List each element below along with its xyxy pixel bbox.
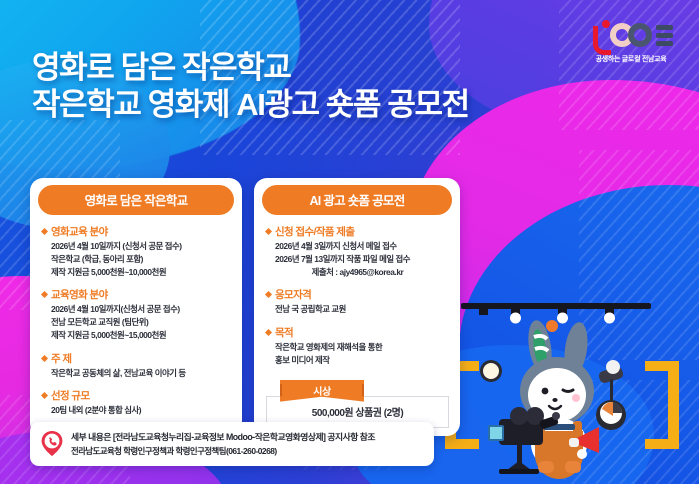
card-header-right: AI 광고 숏폼 공모전 bbox=[262, 185, 452, 215]
list-item: 영화교육 분야 2026년 4월 10일까지 (신청서 공문 접수) 작은학교 … bbox=[42, 224, 231, 278]
list-item: 신청 접수/작품 제출 2026년 4월 3일까지 신청서 메일 접수 2026… bbox=[266, 224, 449, 278]
bullet-diamond-icon bbox=[41, 291, 48, 298]
card-body-left: 영화교육 분야 2026년 4월 10일까지 (신청서 공문 접수) 작은학교 … bbox=[30, 215, 242, 425]
bullet-diamond-icon bbox=[265, 228, 272, 235]
card-ai-ad-shortform: AI 광고 숏폼 공모전 신청 접수/작품 제출 2026년 4월 3일까지 신… bbox=[254, 178, 460, 436]
item-lines: 2026년 4월 10일까지 (신청서 공문 접수) 작은학교 (학급, 동아리… bbox=[42, 240, 231, 278]
item-lines: 2026년 4월 3일까지 신청서 메일 접수 2026년 7월 13일까지 작… bbox=[266, 240, 449, 266]
page-title: 영화로 담은 작은학교 작은학교 영화제 AI광고 숏폼 공모전 bbox=[32, 50, 469, 123]
item-title: 신청 접수/작품 제출 bbox=[266, 224, 449, 239]
mascot-scene bbox=[439, 299, 699, 484]
headline-line-1: 영화로 담은 작은학교 bbox=[32, 50, 469, 87]
card-body-right: 신청 접수/작품 제출 2026년 4월 3일까지 신청서 메일 접수 2026… bbox=[254, 215, 460, 436]
item-title: 영화교육 분야 bbox=[42, 224, 231, 239]
footer-text: 세부 내용은 [전라남도교육청누리집-교육정보 Modoo-작은학교영화영상제]… bbox=[71, 430, 375, 457]
rabbit-mascot-icon bbox=[488, 319, 599, 479]
bullet-diamond-icon bbox=[41, 228, 48, 235]
bullet-diamond-icon bbox=[41, 392, 48, 399]
logo-letter-j-icon bbox=[589, 20, 609, 50]
item-title: 주 제 bbox=[42, 351, 231, 366]
bullet-diamond-icon bbox=[41, 355, 48, 362]
item-title: 선정 규모 bbox=[42, 388, 231, 403]
round-studio-light-icon bbox=[480, 360, 502, 382]
item-title: 목적 bbox=[266, 325, 449, 340]
card-header-left: 영화로 담은 작은학교 bbox=[38, 185, 234, 215]
studio-light-bar-icon bbox=[461, 303, 651, 324]
list-item: 선정 규모 20팀 내외 (2분야 통합 심사) bbox=[42, 388, 231, 417]
right-bracket-icon bbox=[645, 361, 679, 449]
item-title: 응모자격 bbox=[266, 287, 449, 302]
list-item: 주 제 작은학교 공동체의 삶, 전남교육 이야기 등 bbox=[42, 351, 231, 380]
card-film-education: 영화로 담은 작은학교 영화교육 분야 2026년 4월 10일까지 (신청서 … bbox=[30, 178, 242, 436]
submission-email: 제출처 : ajy4965@korea.kr bbox=[266, 266, 449, 279]
item-title: 교육영화 분야 bbox=[42, 287, 231, 302]
headline-line-2: 작은학교 영화제 AI광고 숏폼 공모전 bbox=[32, 87, 469, 124]
item-lines: 작은학교 공동체의 삶, 전남교육 이야기 등 bbox=[42, 367, 231, 380]
logo-letter-o2-icon bbox=[628, 23, 652, 47]
item-lines: 전남 국 공립학교 교원 bbox=[266, 303, 449, 316]
info-cards: 영화로 담은 작은학교 영화교육 분야 2026년 4월 10일까지 (신청서 … bbox=[30, 178, 460, 436]
award-section: 시상 500,000원 상품권 (2명) bbox=[266, 376, 449, 428]
item-lines: 작은학교 영화제의 재해석을 통한 홍보 미디어 제작 bbox=[266, 341, 449, 367]
footer-line-2: 전라남도교육청 학령인구정책과 학령인구정책팀(061-260-0268) bbox=[71, 445, 375, 457]
list-item: 목적 작은학교 영화제의 재해석을 통한 홍보 미디어 제작 bbox=[266, 325, 449, 367]
item-lines: 2026년 4월 10일까지(신청서 공문 접수) 전남 모든학교 교직원 (팀… bbox=[42, 303, 231, 341]
boom-light-icon bbox=[596, 360, 626, 430]
item-lines: 20팀 내외 (2분야 통합 심사) bbox=[42, 404, 231, 417]
list-item: 응모자격 전남 국 공립학교 교원 bbox=[266, 287, 449, 316]
footer-line-1: 세부 내용은 [전라남도교육청누리집-교육정보 Modoo-작은학교영화영상제]… bbox=[71, 430, 375, 443]
footer-contact-bar: 세부 내용은 [전라남도교육청누리집-교육정보 Modoo-작은학교영화영상제]… bbox=[30, 422, 434, 466]
phone-pin-icon bbox=[41, 431, 63, 456]
jeonnam-education-logo: 공생하는 글로컬 전남교육 bbox=[577, 18, 685, 64]
logo-mark bbox=[577, 18, 685, 52]
logo-letter-e-icon bbox=[656, 25, 673, 46]
bullet-diamond-icon bbox=[265, 291, 272, 298]
mascot-illustration bbox=[439, 299, 699, 484]
poster-canvas: 공생하는 글로컬 전남교육 영화로 담은 작은학교 작은학교 영화제 AI광고 … bbox=[0, 0, 699, 484]
list-item: 교육영화 분야 2026년 4월 10일까지(신청서 공문 접수) 전남 모든학… bbox=[42, 287, 231, 341]
bullet-diamond-icon bbox=[265, 329, 272, 336]
logo-caption: 공생하는 글로컬 전남교육 bbox=[577, 54, 685, 64]
